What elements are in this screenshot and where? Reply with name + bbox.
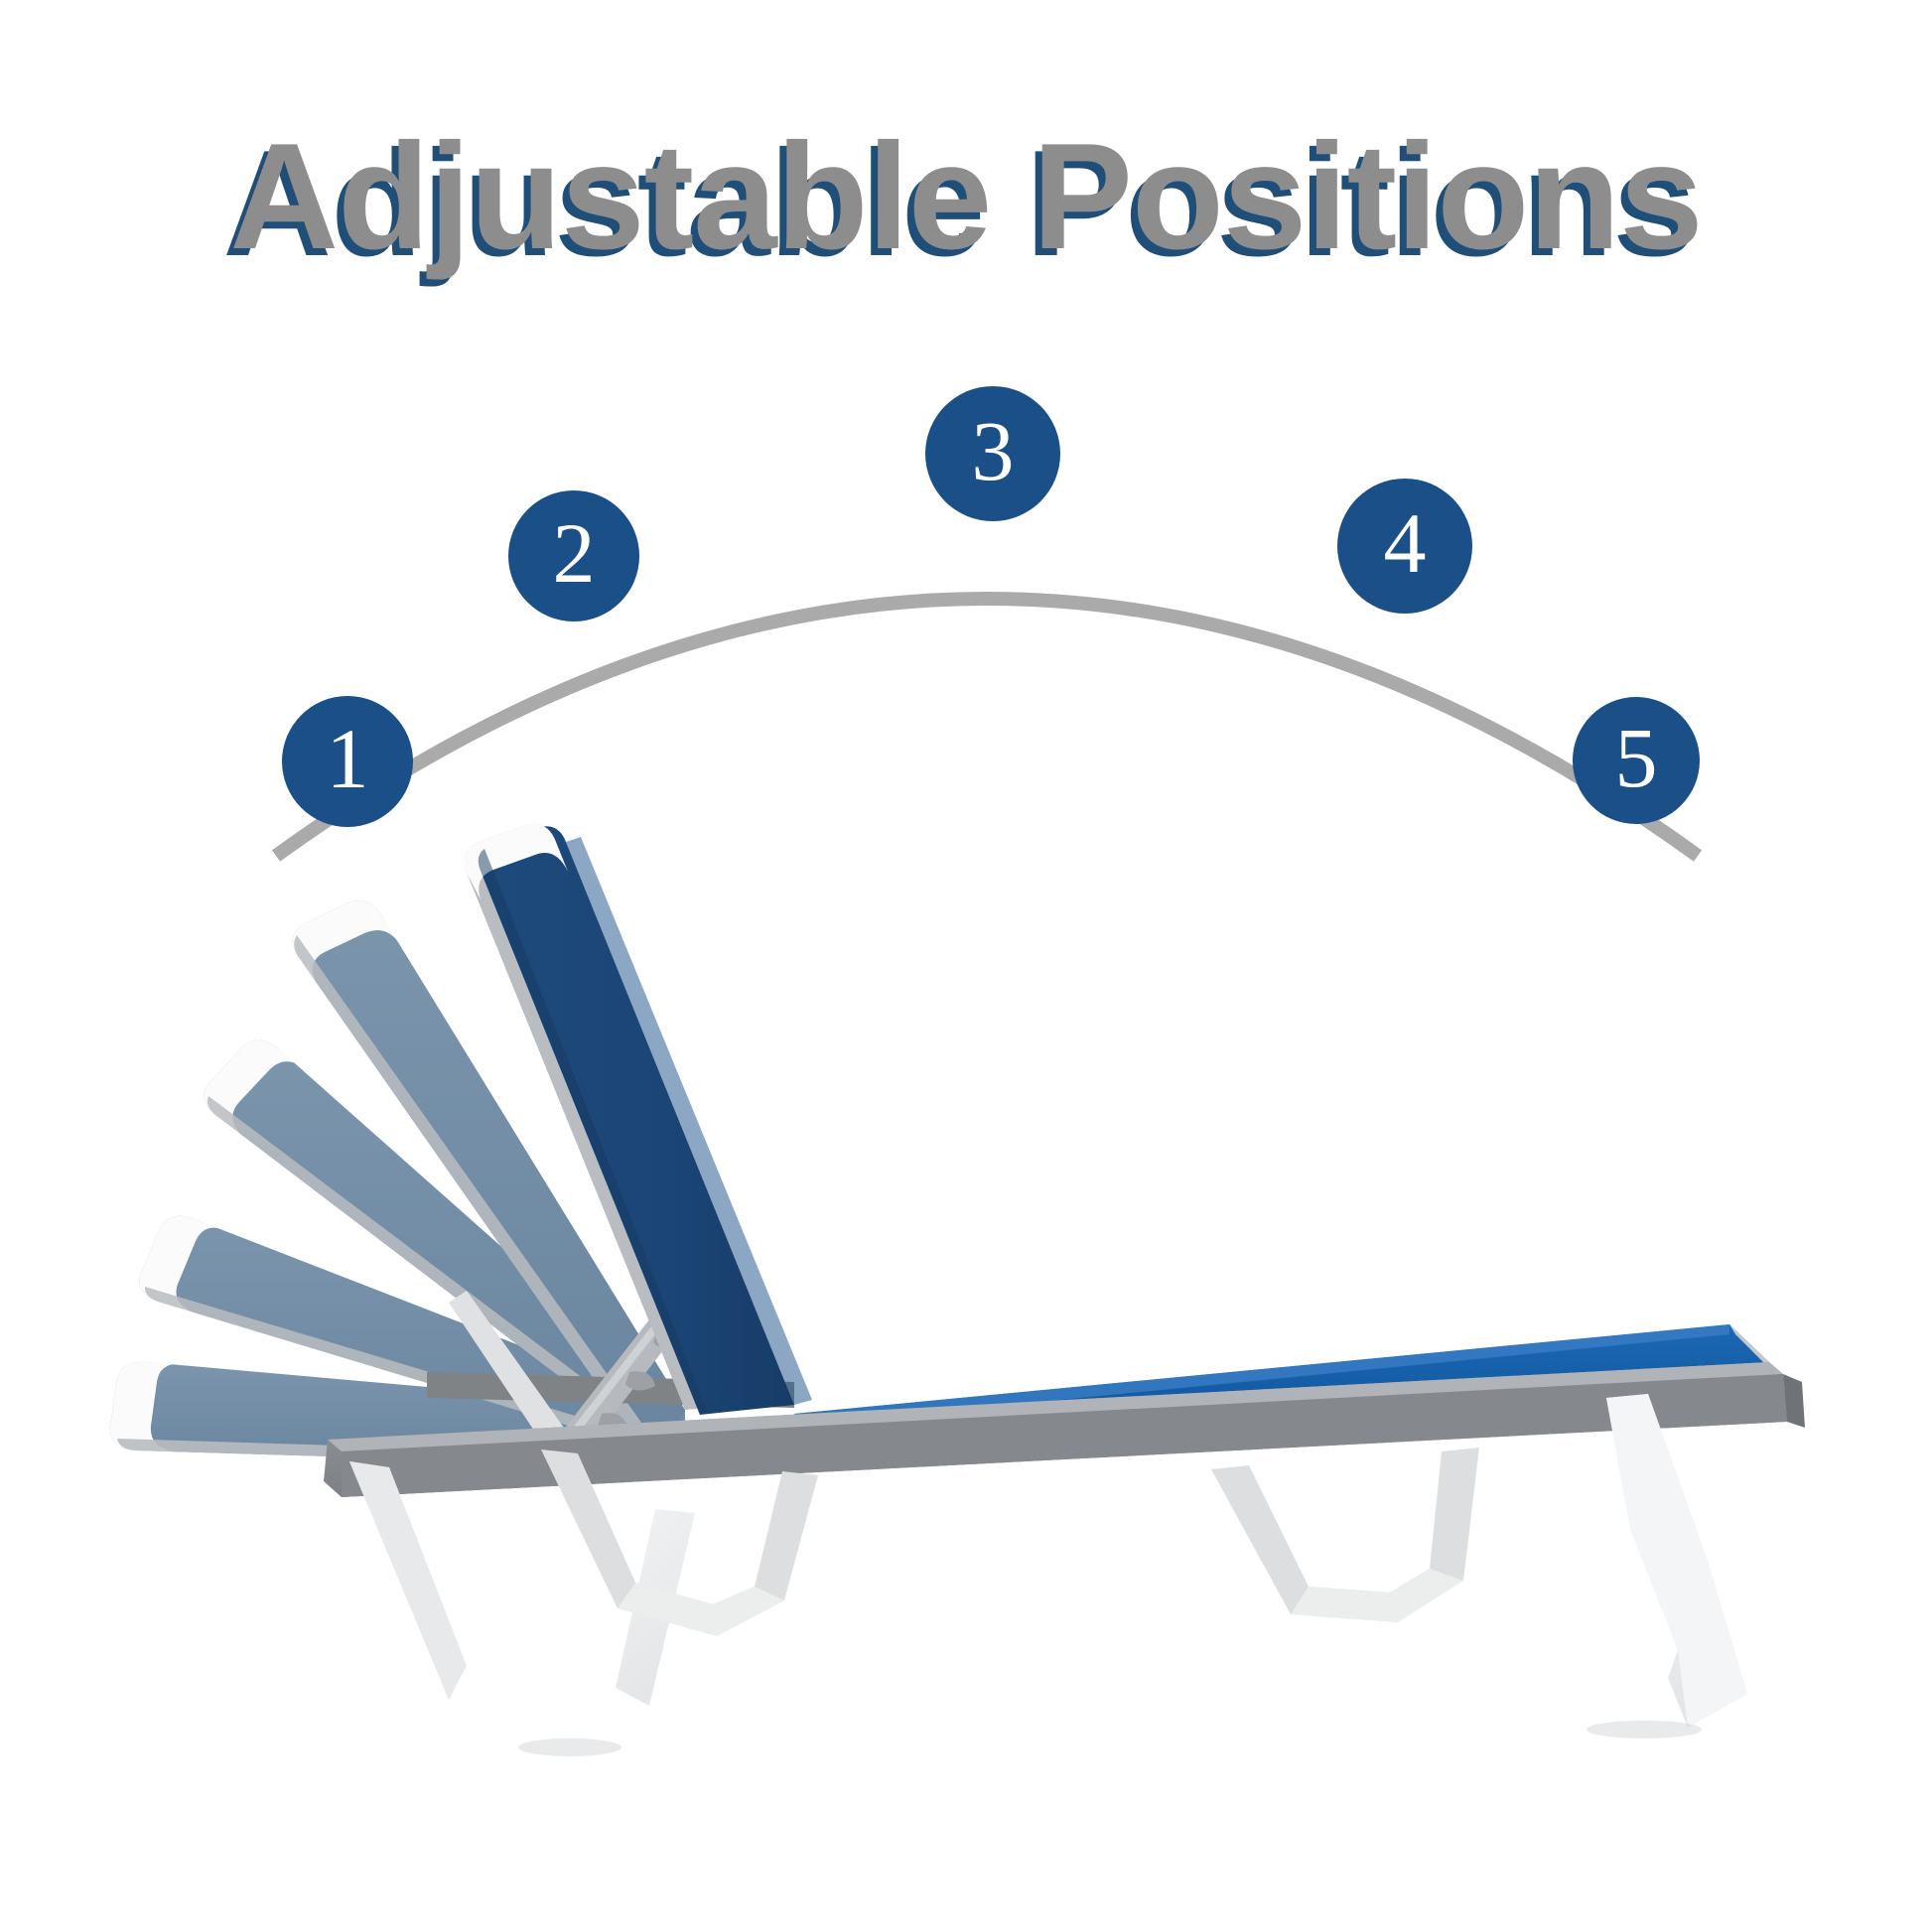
leg-front-right [1430,1394,1747,1727]
leg-foot-shadow [518,1721,1702,1756]
leg-rear-right [1211,1448,1479,1622]
chaise-lounge-illustration [0,0,1932,1932]
infographic-canvas: Adjustable Positions Adjustable Position… [0,0,1932,1932]
